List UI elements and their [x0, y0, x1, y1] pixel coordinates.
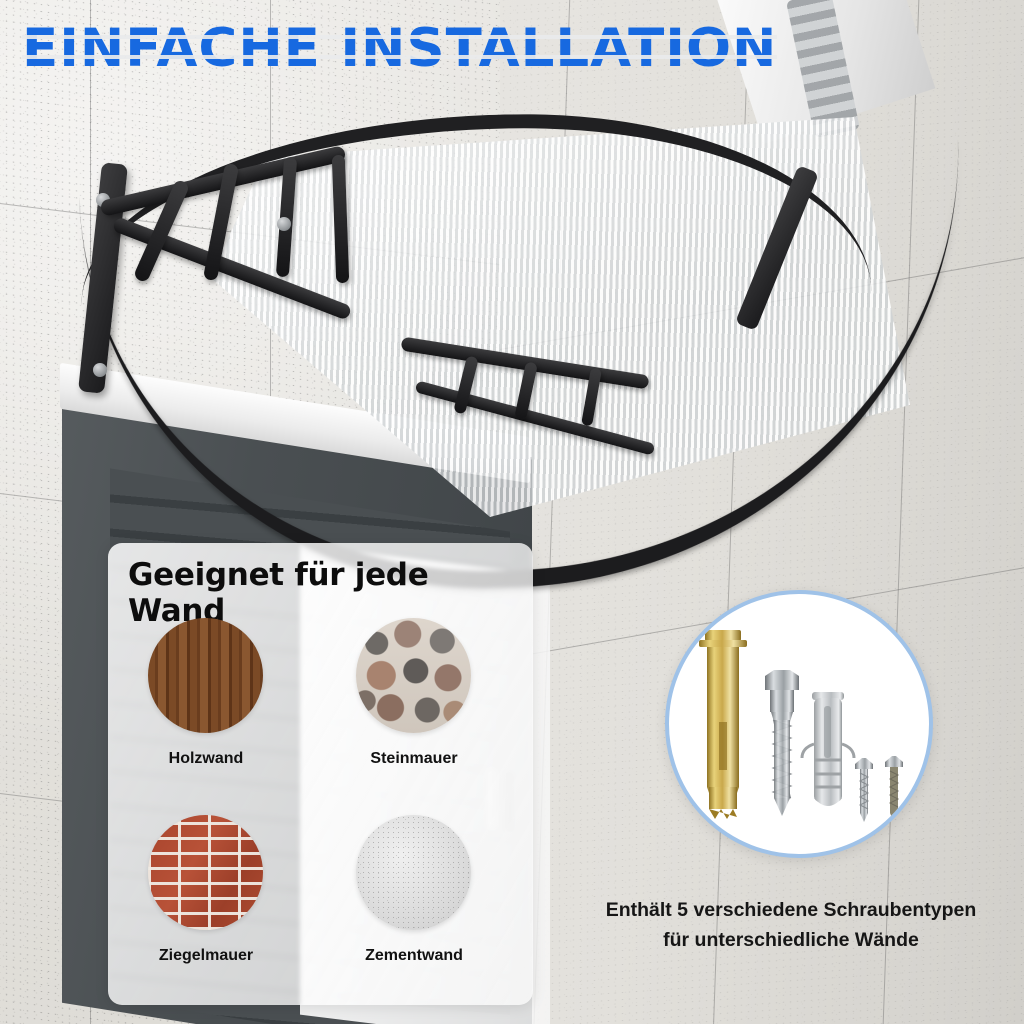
wall-types-title: Geeignet für jede Wand — [128, 557, 518, 629]
sleeve-anchor-bolt-icon — [699, 630, 747, 819]
countersunk-screw-small-1-icon — [855, 758, 873, 822]
swatch-holzwand — [148, 618, 263, 733]
swatch-steinmauer — [356, 618, 471, 733]
swatch-label-zementwand: Zementwand — [334, 947, 494, 965]
caption-line-1: Enthält 5 verschiedene Schraubentypen — [558, 895, 1024, 925]
swatch-label-steinmauer: Steinmauer — [334, 750, 494, 768]
hex-head-lag-screw-icon — [765, 670, 799, 816]
headline-text: EINFACHE INSTALLATION — [22, 18, 777, 79]
wall-types-card: Geeignet für jede Wand Holzwand Steinmau… — [108, 543, 533, 1005]
canopy-awning-product — [60, 95, 920, 525]
nylon-wall-plug-icon — [802, 692, 854, 806]
fastener-caption: Enthält 5 verschiedene Schraubentypen fü… — [558, 895, 1024, 955]
swatch-label-holzwand: Holzwand — [126, 750, 286, 768]
product-marketing-image: EINFACHE INSTALLATION Geeignet für jede … — [0, 0, 1024, 1024]
support-bracket-left — [102, 155, 402, 405]
page-headline: EINFACHE INSTALLATION — [22, 22, 782, 75]
swatch-label-ziegelmauer: Ziegelmauer — [126, 947, 286, 965]
caption-line-2: für unterschiedliche Wände — [558, 925, 1024, 955]
swatch-zementwand — [356, 815, 471, 930]
support-bracket-right — [400, 350, 700, 550]
swatch-ziegelmauer — [148, 815, 263, 930]
fastener-kit-inset — [665, 590, 933, 858]
fastener-illustration — [669, 594, 929, 854]
